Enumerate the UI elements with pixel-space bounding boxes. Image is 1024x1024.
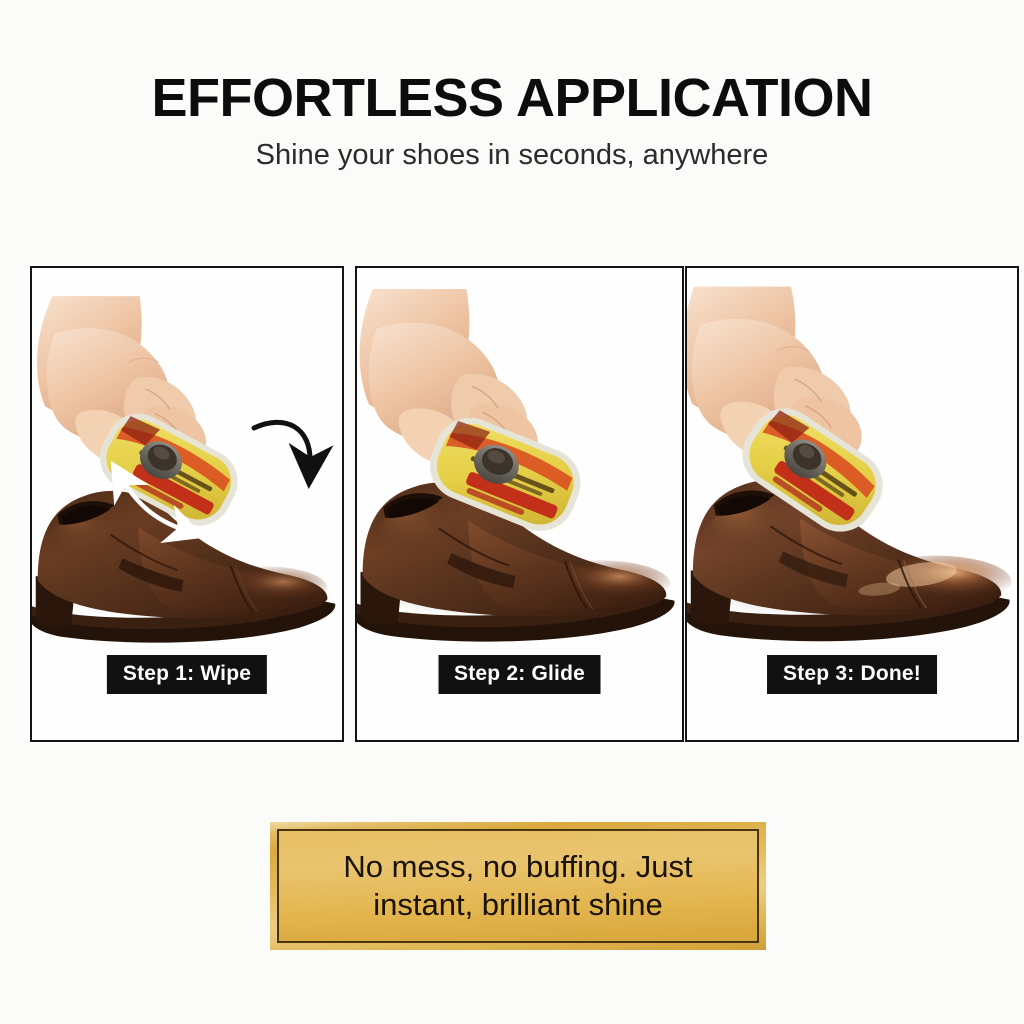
page-subtitle: Shine your shoes in seconds, anywhere xyxy=(0,138,1024,172)
tagline-banner-inner: No mess, no buffing. Just instant, brill… xyxy=(277,829,759,943)
hand-with-applicator xyxy=(32,268,342,627)
infographic-root: EFFORTLESS APPLICATION Shine your shoes … xyxy=(0,0,1024,1024)
tagline-line-2: instant, brilliant shine xyxy=(373,887,663,922)
hand-with-applicator xyxy=(357,268,682,627)
tagline-text: No mess, no buffing. Just instant, brill… xyxy=(329,848,706,924)
step-badge-3: Step 3: Done! xyxy=(767,655,937,694)
tagline-banner: No mess, no buffing. Just instant, brill… xyxy=(270,822,766,950)
scene-step-2: Step 2: Glide xyxy=(357,268,682,740)
tagline-line-1: No mess, no buffing. Just xyxy=(343,849,692,884)
step-panel-2: Step 2: Glide xyxy=(355,266,684,742)
step-badge-2: Step 2: Glide xyxy=(438,655,601,694)
step-panel-1: Step 1: Wipe xyxy=(30,266,344,742)
page-title: EFFORTLESS APPLICATION xyxy=(0,70,1024,126)
scene-step-3: Step 3: Done! xyxy=(687,268,1017,740)
hand-with-applicator xyxy=(687,268,1017,627)
step-panel-3: Step 3: Done! xyxy=(685,266,1019,742)
scene-step-1: Step 1: Wipe xyxy=(32,268,342,740)
step-badge-1: Step 1: Wipe xyxy=(107,655,267,694)
